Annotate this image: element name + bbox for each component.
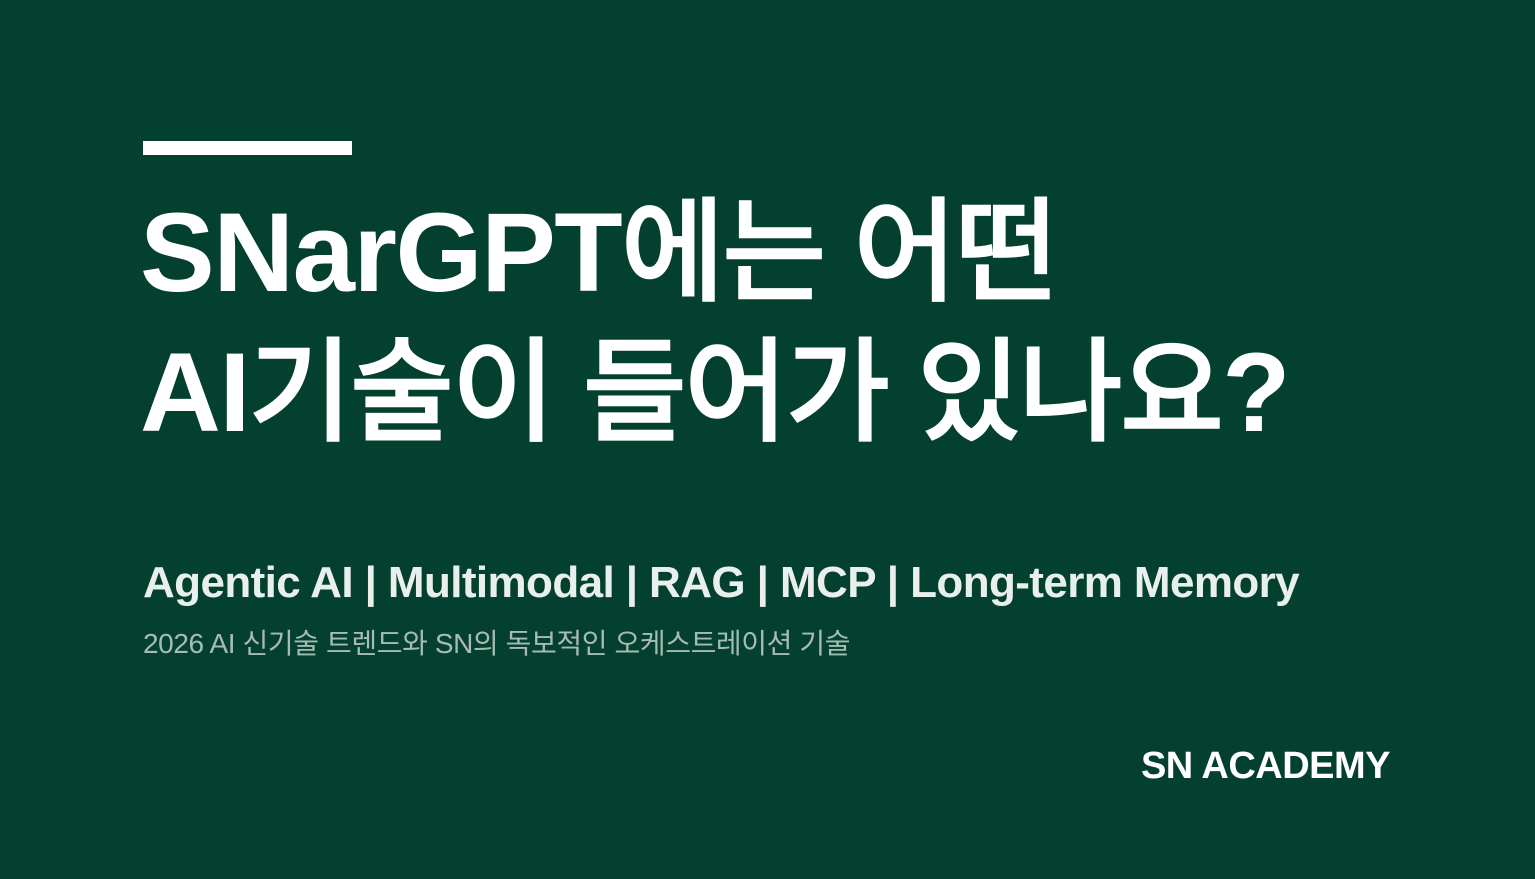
headline-line-2: AI기술이 들어가 있나요? <box>140 323 1400 463</box>
brand-name: SN ACADEMY <box>1141 742 1390 790</box>
top-accent-rule <box>143 141 352 155</box>
headline-block: SNarGPT에는 어떤 AI기술이 들어가 있나요? <box>140 183 1400 463</box>
subtitle-block: Agentic AI | Multimodal | RAG | MCP | Lo… <box>143 552 1443 664</box>
slide-description: 2026 AI 신기술 트렌드와 SN의 독보적인 오케스트레이션 기술 <box>143 624 1443 664</box>
headline-line-1: SNarGPT에는 어떤 <box>140 183 1400 323</box>
presentation-slide: SNarGPT에는 어떤 AI기술이 들어가 있나요? Agentic AI |… <box>0 0 1535 879</box>
technology-list: Agentic AI | Multimodal | RAG | MCP | Lo… <box>143 552 1443 614</box>
